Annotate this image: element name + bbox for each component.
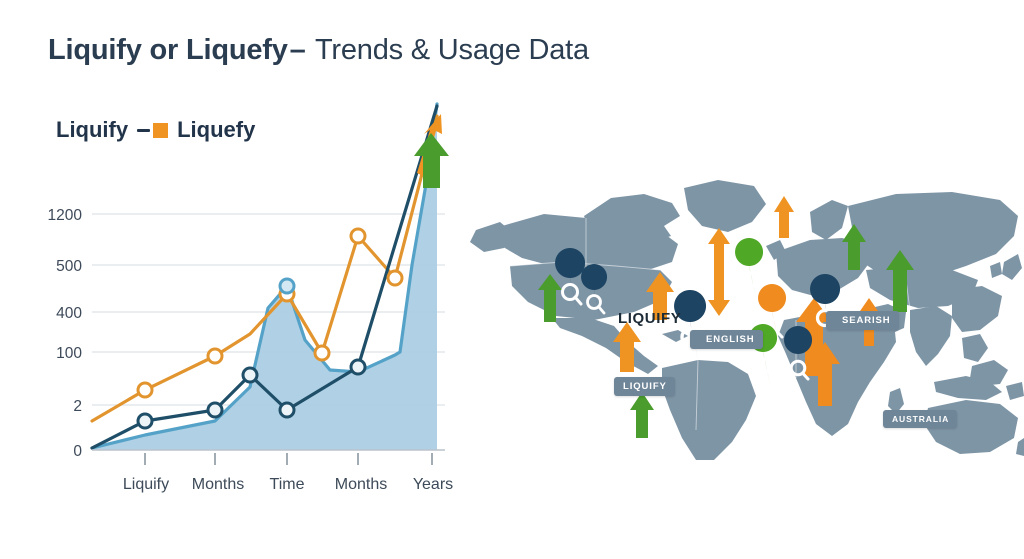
y-tick-label: 400 bbox=[56, 305, 82, 322]
y-tick-label: 500 bbox=[56, 258, 82, 275]
chart-y-tick-labels: 1200 500 400 100 2 0 bbox=[48, 207, 83, 460]
x-tick-label: Years bbox=[413, 476, 453, 493]
ring-pin-icon[interactable] bbox=[674, 290, 706, 364]
ring-pin-icon[interactable] bbox=[810, 274, 840, 342]
x-tick-label: Months bbox=[335, 476, 387, 493]
world-usage-map: LIQUIFY LIQUIFY ENGLISH SEARISH AUSTRALI… bbox=[466, 170, 1024, 460]
chart-marker-area-peak bbox=[280, 279, 294, 293]
x-tick-label: Time bbox=[270, 476, 305, 493]
page-title-strong: Liquify or Liquefy bbox=[48, 34, 288, 66]
chart-plot-area: 1200 500 400 100 2 0 Liquify Months Time… bbox=[0, 90, 470, 510]
page-title-dash: – bbox=[288, 34, 308, 66]
x-tick-label: Liquify bbox=[123, 476, 169, 493]
map-badge-english[interactable]: ENGLISH bbox=[690, 330, 763, 349]
y-tick-label: 0 bbox=[73, 443, 82, 460]
search-pin-icon[interactable] bbox=[555, 248, 585, 316]
map-badge-australia[interactable]: AUSTRALIA bbox=[883, 410, 957, 428]
x-tick-label: Months bbox=[192, 476, 244, 493]
page-title-light: Trends & Usage Data bbox=[315, 34, 589, 66]
ring-pin-icon[interactable] bbox=[735, 238, 763, 302]
page-title: Liquify or Liquefy– Trends & Usage Data bbox=[48, 34, 589, 67]
y-tick-label: 2 bbox=[73, 398, 82, 415]
search-pin-icon[interactable] bbox=[784, 326, 812, 390]
chart-x-ticks bbox=[145, 453, 432, 465]
y-tick-label: 100 bbox=[56, 345, 82, 362]
map-annotations-layer: LIQUIFY LIQUIFY ENGLISH SEARISH AUSTRALI… bbox=[466, 170, 1024, 460]
y-tick-label: 1200 bbox=[48, 207, 83, 224]
search-pin-icon[interactable] bbox=[581, 264, 607, 322]
map-badge-searish[interactable]: SEARISH bbox=[826, 311, 899, 330]
map-label-liquify-atlantic: LIQUIFY bbox=[618, 310, 681, 327]
map-badge-liquify-south-america[interactable]: LIQUIFY bbox=[614, 377, 675, 396]
trends-chart: Liquify Liquefy bbox=[0, 90, 470, 510]
chart-x-tick-labels: Liquify Months Time Months Years bbox=[123, 476, 453, 493]
